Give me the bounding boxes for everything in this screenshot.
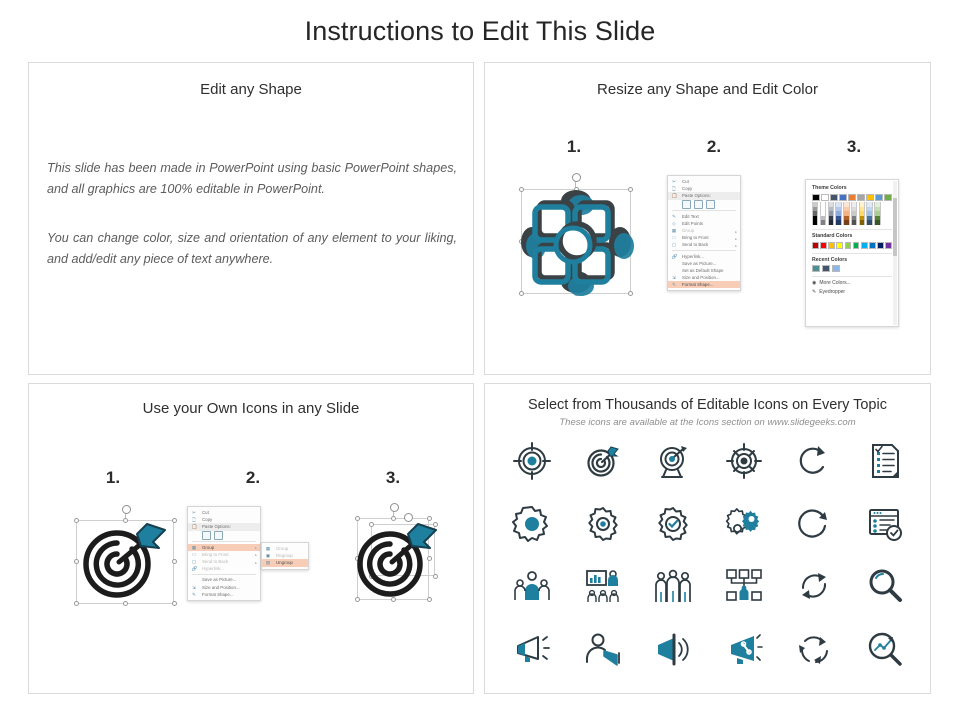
theme-colors-label: Theme Colors <box>812 185 892 191</box>
figure-target-ungrouped[interactable] <box>341 506 445 610</box>
magnifier-chart-icon[interactable] <box>865 629 905 669</box>
theme-colors-row[interactable] <box>812 194 892 201</box>
hyperlink-icon: 🔗 <box>672 254 677 259</box>
figure-target-selected[interactable] <box>73 510 177 610</box>
hyperlink-icon: 🔗 <box>192 566 197 571</box>
panel-edit-any-shape: Edit any Shape This slide has been made … <box>28 62 474 375</box>
recent-swatch-1[interactable] <box>822 265 830 272</box>
panel-subheading-icon-library: These icons are available at the Icons s… <box>485 417 930 428</box>
recent-colors-label: Recent Colors <box>812 257 892 263</box>
ctx-item-hyperlink[interactable]: 🔗 Hyperlink... <box>188 565 260 572</box>
recent-swatch-0[interactable] <box>812 265 820 272</box>
theme-ramp-8[interactable] <box>874 202 880 225</box>
four-square-circle-shape-icon <box>517 179 635 299</box>
size-position-icon: ⇲ <box>192 585 197 590</box>
eyedropper-icon: ✎ <box>812 289 816 295</box>
panel-icon-library: Select from Thousands of Editable Icons … <box>484 383 931 694</box>
group-icon: ▦ <box>672 228 677 233</box>
send-back-icon: ▢ <box>192 559 197 564</box>
theme-swatch-1[interactable] <box>821 194 829 201</box>
checklist-document-icon[interactable] <box>865 441 905 481</box>
ctx-item-paste-options[interactable]: 📋 Paste Options: <box>668 192 740 199</box>
target-stand-icon[interactable] <box>653 441 693 481</box>
checklist-approved-icon[interactable] <box>865 504 905 544</box>
bring-front-icon: □ <box>672 235 677 240</box>
ungroup-icon: ▧ <box>266 560 271 565</box>
size-position-icon: ⇲ <box>672 275 677 280</box>
context-menu-icon[interactable]: ✂ Cut 🗋 Copy 📋 Paste Options: ▦ Group ▸ <box>187 506 261 601</box>
refresh-circle-icon[interactable] <box>794 504 834 544</box>
step-number-1: 1. <box>554 137 594 157</box>
step-number-3: 3. <box>373 468 413 488</box>
standard-swatch-6[interactable] <box>861 242 868 249</box>
slide-canvas: Instructions to Edit This Slide Edit any… <box>0 0 960 720</box>
loudspeaker-icon[interactable] <box>653 629 693 669</box>
standard-colors-label: Standard Colors <box>812 233 892 239</box>
refresh-clockwise-icon[interactable] <box>794 441 834 481</box>
group-people-icon[interactable] <box>653 566 693 606</box>
palette-icon: ◉ <box>812 280 816 286</box>
ctx-item-copy[interactable]: 🗋 Copy <box>668 185 740 192</box>
theme-swatch-2[interactable] <box>830 194 838 201</box>
ctx-item-copy[interactable]: 🗋 Copy <box>188 516 260 523</box>
recent-swatch-2[interactable] <box>832 265 840 272</box>
ctx-separator <box>192 574 256 575</box>
gear-solid-icon[interactable] <box>512 504 552 544</box>
paste-option-chips[interactable] <box>188 531 260 540</box>
ctx-item-cut[interactable]: ✂ Cut <box>188 509 260 516</box>
step-number-3: 3. <box>834 137 874 157</box>
ctx-separator <box>672 210 736 211</box>
standard-swatch-5[interactable] <box>853 242 860 249</box>
theme-swatch-3[interactable] <box>839 194 847 201</box>
ctx-item-paste-options[interactable]: 📋 Paste Options: <box>188 523 260 530</box>
context-submenu-group[interactable]: ▦ Group ▣ Regroup ▧ Ungroup <box>261 542 309 570</box>
paste-icon: 📋 <box>672 193 677 198</box>
standard-swatch-4[interactable] <box>845 242 852 249</box>
scissors-icon: ✂ <box>192 510 197 515</box>
megaphone-percent-icon[interactable] <box>724 629 764 669</box>
crosshair-scope-icon[interactable] <box>724 441 764 481</box>
standard-swatch-9[interactable] <box>885 242 892 249</box>
step-number-1: 1. <box>93 468 133 488</box>
ctx-submenu-item-regroup[interactable]: ▣ Regroup <box>262 552 308 559</box>
paste-chip-keep-text[interactable] <box>706 200 715 209</box>
theme-swatch-8[interactable] <box>884 194 892 201</box>
ctx-item-size-and-position[interactable]: ⇲ Size and Position... <box>188 584 260 591</box>
copy-icon: 🗋 <box>672 186 677 191</box>
panel-heading-edit-shape: Edit any Shape <box>29 81 473 98</box>
panel-heading-icon-library: Select from Thousands of Editable Icons … <box>485 397 930 413</box>
theme-swatch-6[interactable] <box>866 194 874 201</box>
ctx-item-group[interactable]: ▦ Group ▸ <box>188 544 260 551</box>
step-number-2: 2. <box>233 468 273 488</box>
ctx-separator <box>192 541 256 542</box>
gear-outline-icon[interactable] <box>583 504 623 544</box>
org-chart-icon[interactable] <box>724 566 764 606</box>
scissors-icon: ✂ <box>672 179 677 184</box>
ctx-item-send-to-back[interactable]: ▢ Send to Back ▸ <box>668 241 740 248</box>
theme-ramp-4[interactable] <box>843 202 849 225</box>
ctx-item-send-to-back[interactable]: ▢ Send to Back ▸ <box>188 558 260 565</box>
theme-ramp-7[interactable] <box>866 202 872 225</box>
step-number-2: 2. <box>694 137 734 157</box>
standard-swatch-2[interactable] <box>828 242 835 249</box>
standard-swatch-0[interactable] <box>812 242 819 249</box>
format-shape-icon: ✎ <box>672 282 677 287</box>
standard-swatch-8[interactable] <box>877 242 884 249</box>
theme-ramp-5[interactable] <box>851 202 857 225</box>
paste-option-chips[interactable] <box>668 200 740 209</box>
edit-text-icon: ✎ <box>672 214 677 219</box>
magnifier-icon[interactable] <box>865 566 905 606</box>
target-crosshair-icon[interactable] <box>512 441 552 481</box>
ctx-submenu-item-ungroup[interactable]: ▧ Ungroup <box>262 559 308 566</box>
ctx-item-bring-to-front[interactable]: □ Bring to Front ▸ <box>668 234 740 241</box>
ctx-item-edit-text[interactable]: ✎ Edit Text <box>668 213 740 220</box>
ctx-item-hyperlink[interactable]: 🔗 Hyperlink... <box>668 253 740 260</box>
standard-colors-row[interactable] <box>812 242 892 249</box>
theme-ramp-6[interactable] <box>859 202 865 225</box>
standard-swatch-7[interactable] <box>869 242 876 249</box>
recent-colors-row[interactable] <box>812 265 892 272</box>
context-menu-shape[interactable]: ✂ Cut 🗋 Copy 📋 Paste Options: ✎ Edit Tex… <box>667 175 741 291</box>
paste-chip-keep-formatting[interactable] <box>202 531 211 540</box>
paste-chip-picture[interactable] <box>694 200 703 209</box>
group-icon: ▦ <box>192 545 197 550</box>
figure-selected-shape[interactable] <box>517 179 635 299</box>
ctx-item-save-as-picture[interactable]: Save as Picture... <box>188 576 260 583</box>
ctx-item-bring-to-front[interactable]: □ Bring to Front ▸ <box>188 551 260 558</box>
theme-swatch-5[interactable] <box>857 194 865 201</box>
panel-resize-shape-edit-color: Resize any Shape and Edit Color 1. 2. 3. <box>484 62 931 375</box>
cycle-arrows-icon[interactable] <box>794 629 834 669</box>
more-colors-button[interactable]: ◉ More Colors... <box>812 280 892 286</box>
team-leader-icon[interactable] <box>512 566 552 606</box>
divider <box>812 276 892 277</box>
gears-double-icon[interactable] <box>724 504 764 544</box>
gear-check-icon[interactable] <box>653 504 693 544</box>
edit-shape-paragraph-1: This slide has been made in PowerPoint u… <box>47 158 457 200</box>
ctx-item-format-shape[interactable]: ✎ Format Shape... <box>188 591 260 598</box>
ctx-item-size-and-position[interactable]: ⇲ Size and Position... <box>668 274 740 281</box>
ctx-separator <box>672 250 736 251</box>
icon-grid <box>497 430 920 680</box>
megaphone-icon[interactable] <box>512 629 552 669</box>
page-title: Instructions to Edit This Slide <box>0 16 960 47</box>
format-shape-icon: ✎ <box>192 592 197 597</box>
ctx-item-group[interactable]: ▦ Group ▸ <box>668 227 740 234</box>
paste-chip-keep-formatting[interactable] <box>682 200 691 209</box>
divider <box>812 229 892 230</box>
theme-swatch-0[interactable] <box>812 194 820 201</box>
color-picker-panel[interactable]: Theme Colors Standard Colors Recent Colo… <box>805 179 899 327</box>
theme-swatch-7[interactable] <box>875 194 883 201</box>
edit-shape-paragraph-2: You can change color, size and orientati… <box>47 228 457 270</box>
send-back-icon: ▢ <box>672 242 677 247</box>
standard-swatch-3[interactable] <box>836 242 843 249</box>
sync-arrows-icon[interactable] <box>794 566 834 606</box>
panel-heading-resize-shape: Resize any Shape and Edit Color <box>485 81 930 98</box>
presentation-training-icon[interactable] <box>583 566 623 606</box>
dartboard-arrow-icon <box>73 510 177 610</box>
ctx-item-save-as-picture[interactable]: Save as Picture... <box>668 260 740 267</box>
divider <box>812 253 892 254</box>
theme-swatch-4[interactable] <box>848 194 856 201</box>
eyedropper-button[interactable]: ✎ Eyedropper <box>812 289 892 295</box>
theme-ramp-3[interactable] <box>835 202 841 225</box>
ctx-item-set-default-shape[interactable]: Set as Default Shape <box>668 267 740 274</box>
copy-icon: 🗋 <box>192 517 197 522</box>
theme-colors-ramps[interactable] <box>812 202 892 225</box>
theme-ramp-0[interactable] <box>812 202 818 225</box>
dartboard-arrow-icon[interactable] <box>583 441 623 481</box>
group-icon: ▦ <box>266 546 271 551</box>
theme-ramp-2[interactable] <box>828 202 834 225</box>
person-megaphone-icon[interactable] <box>583 629 623 669</box>
ctx-submenu-item-group[interactable]: ▦ Group <box>262 545 308 552</box>
bring-front-icon: □ <box>192 552 197 557</box>
panel-heading-own-icons: Use your Own Icons in any Slide <box>29 400 473 417</box>
regroup-icon: ▣ <box>266 553 271 558</box>
ctx-item-cut[interactable]: ✂ Cut <box>668 178 740 185</box>
edit-points-icon: ◇ <box>672 221 677 226</box>
dartboard-arrow-icon <box>341 506 445 610</box>
panel-use-own-icons: Use your Own Icons in any Slide 1. 2. 3. <box>28 383 474 694</box>
ctx-item-format-shape[interactable]: ✎ Format Shape... <box>668 281 740 288</box>
paste-chip-picture[interactable] <box>214 531 223 540</box>
chevron-right-icon: ▸ <box>735 243 737 249</box>
ctx-item-edit-points[interactable]: ◇ Edit Points <box>668 220 740 227</box>
standard-swatch-1[interactable] <box>820 242 827 249</box>
paste-icon: 📋 <box>192 524 197 529</box>
color-panel-scrollbar[interactable] <box>893 181 897 325</box>
theme-ramp-1[interactable] <box>820 202 826 225</box>
